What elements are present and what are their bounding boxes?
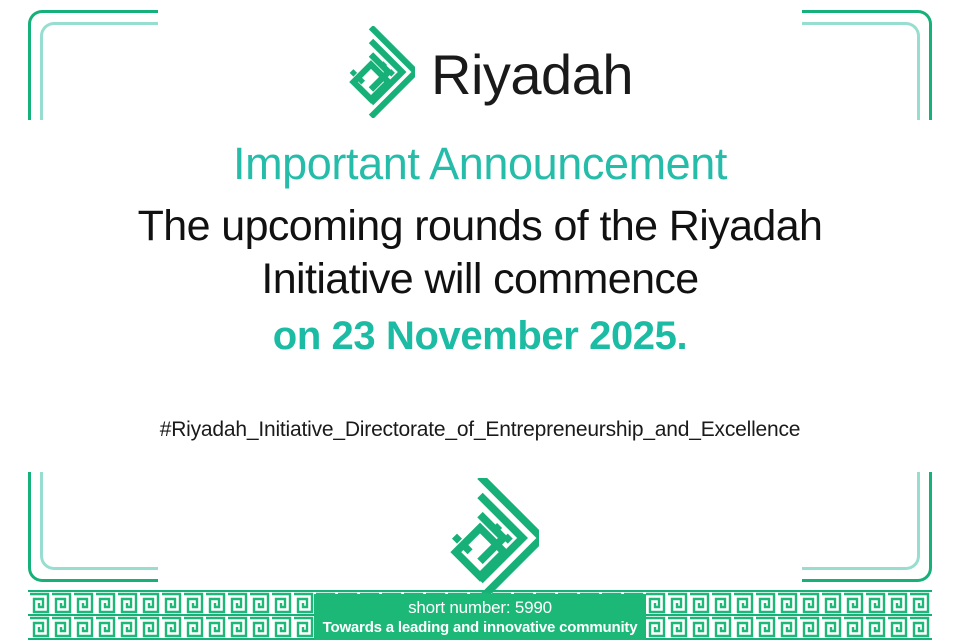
announcement-content: Important Announcement The upcoming roun… xyxy=(0,138,960,362)
corner-bracket-bottom-left-outer xyxy=(28,472,158,582)
header: Riyadah xyxy=(0,26,960,123)
banner-tagline: Towards a leading and innovative communi… xyxy=(323,618,638,638)
riyadah-diamond-chevron-logo-icon xyxy=(327,26,415,123)
hashtag: #Riyadah_Initiative_Directorate_of_Entre… xyxy=(0,418,960,442)
footer-banner: short number: 5990 Towards a leading and… xyxy=(314,594,646,640)
corner-bracket-bottom-left-inner xyxy=(40,472,158,570)
corner-bracket-bottom-right-outer xyxy=(802,472,932,582)
headline: Important Announcement xyxy=(0,138,960,190)
body-line-1: The upcoming rounds of the Riyadah xyxy=(0,200,960,253)
corner-bracket-bottom-right-inner xyxy=(802,472,920,570)
date-line: on 23 November 2025. xyxy=(0,310,960,362)
short-number-label: short number: 5990 xyxy=(408,597,552,618)
brand-wordmark: Riyadah xyxy=(431,47,633,103)
announcement-poster: Riyadah Important Announcement The upcom… xyxy=(0,0,960,640)
body-line-2: Initiative will commence xyxy=(0,253,960,306)
footer-logo xyxy=(421,478,539,603)
